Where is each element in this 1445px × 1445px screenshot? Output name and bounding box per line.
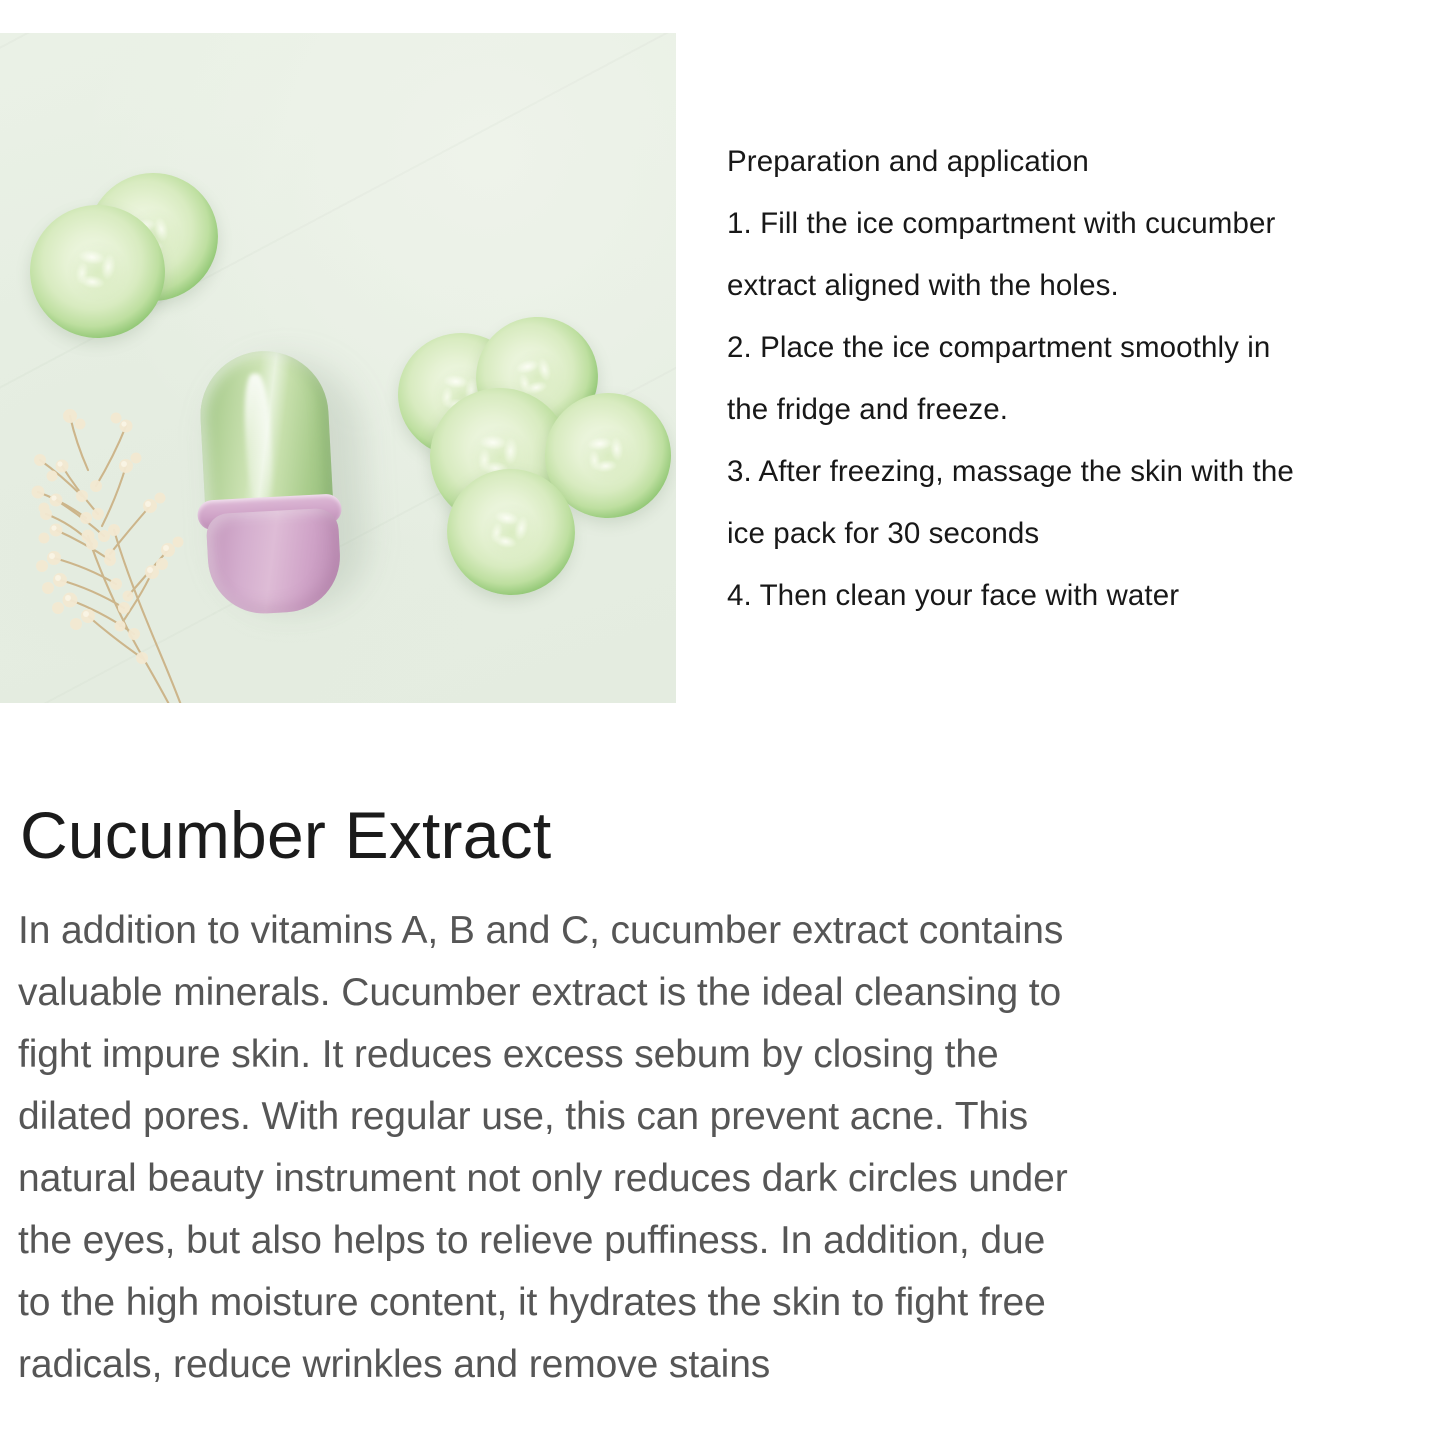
instruction-line: 1. Fill the ice compartment with cucumbe… [727,193,1427,255]
description-line: to the high moisture content, it hydrate… [18,1272,1418,1334]
instruction-line: the fridge and freeze. [727,379,1427,441]
product-photo [0,33,676,703]
product-detail-page: Preparation and application 1. Fill the … [0,0,1445,1445]
instruction-line: extract aligned with the holes. [727,255,1427,317]
description-line: natural beauty instrument not only reduc… [18,1148,1418,1210]
preparation-instructions: Preparation and application 1. Fill the … [727,131,1427,627]
description-body: In addition to vitamins A, B and C, cucu… [18,900,1418,1396]
instructions-title: Preparation and application [727,131,1427,193]
description-line: In addition to vitamins A, B and C, cucu… [18,900,1418,962]
ice-roller-device [189,347,351,616]
description-line: fight impure skin. It reduces excess seb… [18,1024,1418,1086]
page-title: Cucumber Extract [20,802,551,868]
description-line: valuable minerals. Cucumber extract is t… [18,962,1418,1024]
top-section: Preparation and application 1. Fill the … [0,0,1445,710]
instruction-line: 2. Place the ice compartment smoothly in [727,317,1427,379]
description-line: radicals, reduce wrinkles and remove sta… [18,1334,1418,1396]
instruction-line: 3. After freezing, massage the skin with… [727,441,1427,503]
description-line: the eyes, but also helps to relieve puff… [18,1210,1418,1272]
instruction-line: 4. Then clean your face with water [727,565,1427,627]
instruction-line: ice pack for 30 seconds [727,503,1427,565]
description-line: dilated pores. With regular use, this ca… [18,1086,1418,1148]
description-section: Cucumber Extract In addition to vitamins… [0,710,1445,1445]
